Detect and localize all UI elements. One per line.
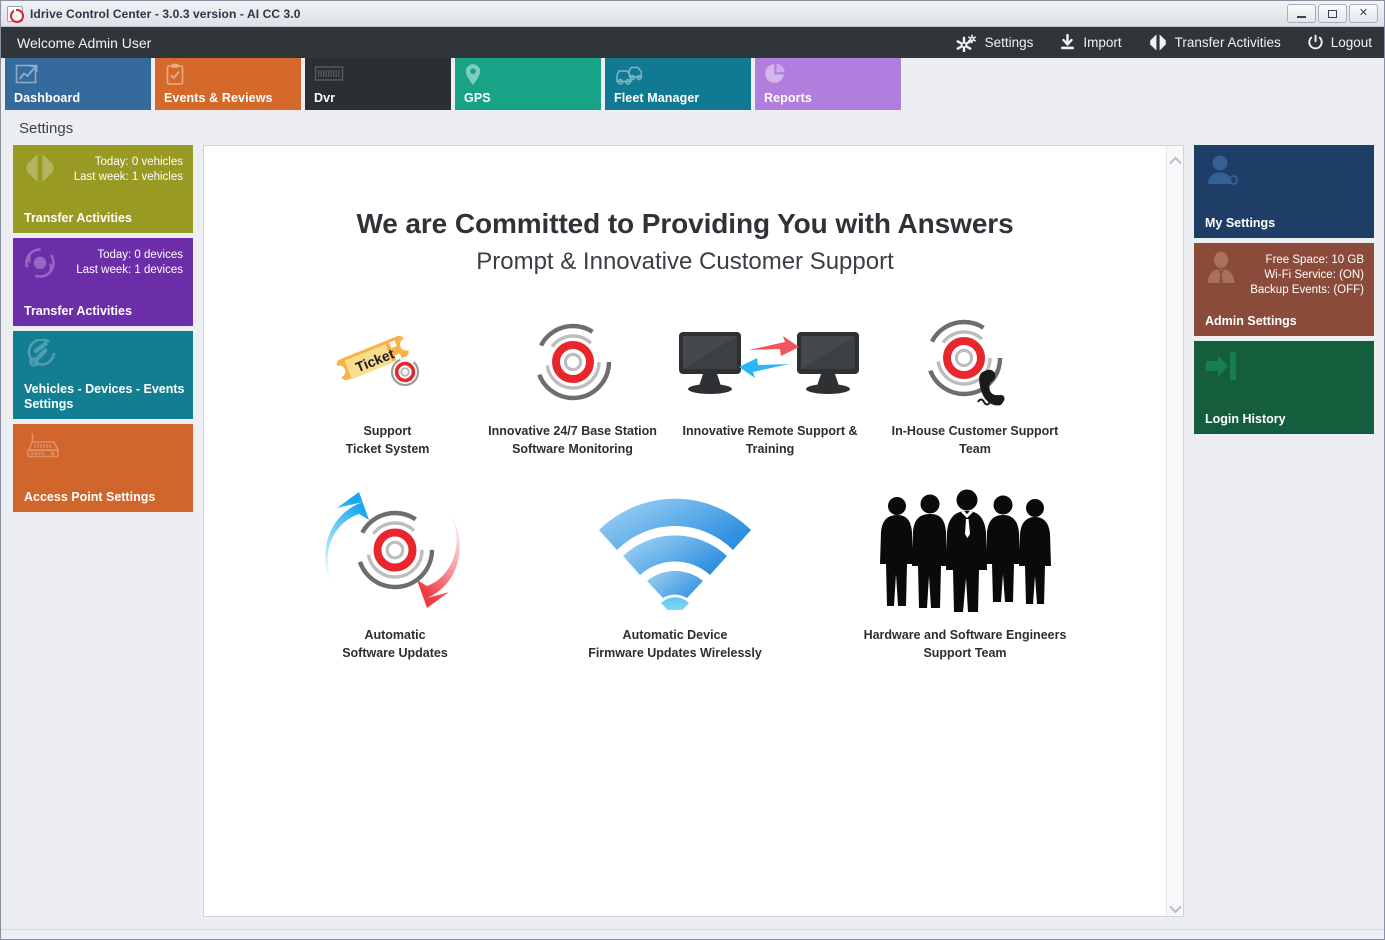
- window-controls: ✕: [1287, 4, 1382, 23]
- tile-label: Access Point Settings: [24, 490, 185, 505]
- application-window: Idrive Control Center - 3.0.3 version - …: [0, 0, 1385, 940]
- maximize-icon: [1328, 10, 1337, 18]
- hero-heading: We are Committed to Providing You with A…: [204, 208, 1166, 240]
- tab-dvr[interactable]: Dvr: [305, 58, 451, 110]
- menu-item-transfer-activities[interactable]: Transfer Activities: [1148, 34, 1281, 51]
- wifi-icon: [525, 486, 825, 616]
- menu-label-transfer-activities: Transfer Activities: [1175, 35, 1281, 50]
- minimize-button[interactable]: [1287, 4, 1316, 23]
- main-navigation-tabs: Dashboard Events & Reviews: [1, 58, 1384, 112]
- menu-label-settings: Settings: [985, 35, 1034, 50]
- feature-label: Innovative 24/7 Base Station Software Mo…: [480, 422, 665, 458]
- pie-chart-icon: [764, 63, 786, 90]
- feature-label: Automatic Software Updates: [265, 626, 525, 662]
- tile-label: Admin Settings: [1205, 314, 1366, 329]
- tile-stats: Today: 0 devices Last week: 1 devices: [76, 248, 183, 278]
- tile-stats: Today: 0 vehicles Last week: 1 vehicles: [74, 155, 183, 185]
- feature-hw-sw-engineers-support-team: Hardware and Software Engineers Support …: [825, 486, 1105, 662]
- map-pin-icon: [464, 63, 482, 92]
- feature-automatic-software-updates: Automatic Software Updates: [265, 486, 525, 662]
- login-door-icon: [1204, 349, 1238, 388]
- right-tile-column: My Settings Free Space: 10 GB Wi-Fi Serv…: [1194, 145, 1374, 917]
- tile-label: Transfer Activities: [24, 304, 185, 319]
- wrench-icon: [23, 339, 59, 378]
- download-icon: [1059, 34, 1076, 51]
- feature-remote-support-training: Innovative Remote Support & Training: [665, 312, 875, 458]
- tab-fleet-manager[interactable]: Fleet Manager: [605, 58, 751, 110]
- features-grid: Ticket Support Ticket System: [204, 312, 1166, 662]
- user-settings-icon: [1204, 153, 1240, 194]
- target-phone-icon: [875, 312, 1075, 412]
- feature-label: Support Ticket System: [295, 422, 480, 458]
- tab-label-fleet-manager: Fleet Manager: [614, 91, 699, 105]
- minimize-icon: [1297, 16, 1306, 18]
- feature-base-station-monitoring: Innovative 24/7 Base Station Software Mo…: [480, 312, 665, 458]
- features-row-2: Automatic Software Updates: [204, 486, 1166, 662]
- router-icon: [23, 432, 63, 471]
- tab-gps[interactable]: GPS: [455, 58, 601, 110]
- tab-label-dashboard: Dashboard: [14, 91, 80, 105]
- tab-reports[interactable]: Reports: [755, 58, 901, 110]
- feature-inhouse-customer-support-team: In-House Customer Support Team: [875, 312, 1075, 458]
- tile-my-settings[interactable]: My Settings: [1194, 145, 1374, 238]
- stat-line: Today: 0 devices: [97, 249, 183, 261]
- menu-item-import[interactable]: Import: [1059, 34, 1121, 51]
- content-scroll-area: We are Committed to Providing You with A…: [204, 146, 1166, 916]
- team-silhouette-icon: [825, 486, 1105, 616]
- top-menu-bar: Welcome Admin User: [1, 27, 1384, 58]
- stat-line: Free Space: 10 GB: [1266, 254, 1364, 266]
- hero-section: We are Committed to Providing You with A…: [204, 146, 1166, 276]
- close-icon: ✕: [1359, 8, 1368, 19]
- feature-label: Innovative Remote Support & Training: [665, 422, 875, 458]
- vehicles-icon: [614, 63, 644, 92]
- features-row-1: Ticket Support Ticket System: [204, 312, 1166, 458]
- chevron-up-icon[interactable]: [1169, 152, 1182, 161]
- sync-circle-icon: [23, 246, 57, 285]
- tile-label: Login History: [1205, 412, 1366, 427]
- tile-stats: Free Space: 10 GB Wi-Fi Service: (ON) Ba…: [1250, 253, 1364, 298]
- vertical-scrollbar[interactable]: [1166, 146, 1183, 916]
- tab-label-dvr: Dvr: [314, 91, 335, 105]
- app-target-ring-icon: [7, 6, 23, 22]
- feature-label: Hardware and Software Engineers Support …: [825, 626, 1105, 662]
- menu-item-logout[interactable]: Logout: [1307, 34, 1372, 51]
- tile-admin-settings[interactable]: Free Space: 10 GB Wi-Fi Service: (ON) Ba…: [1194, 243, 1374, 336]
- page-title: Settings: [19, 120, 73, 137]
- close-button[interactable]: ✕: [1349, 4, 1378, 23]
- feature-label: Automatic Device Firmware Updates Wirele…: [525, 626, 825, 662]
- clipboard-check-icon: [164, 63, 186, 92]
- transfer-arrows-icon: [1148, 34, 1168, 51]
- stat-line: Today: 0 vehicles: [95, 156, 183, 168]
- tile-label: Transfer Activities: [24, 211, 185, 226]
- stat-line: Last week: 1 vehicles: [74, 171, 183, 183]
- tile-label: My Settings: [1205, 216, 1366, 231]
- power-icon: [1307, 34, 1324, 51]
- hero-subheading: Prompt & Innovative Customer Support: [204, 248, 1166, 276]
- remote-monitors-icon: [665, 312, 875, 412]
- tile-transfer-activities-vehicles[interactable]: Today: 0 vehicles Last week: 1 vehicles …: [13, 145, 193, 233]
- tile-login-history[interactable]: Login History: [1194, 341, 1374, 434]
- maximize-button[interactable]: [1318, 4, 1347, 23]
- transfer-arrows-icon: [23, 153, 57, 188]
- menu-label-logout: Logout: [1331, 35, 1372, 50]
- admin-user-icon: [1204, 251, 1238, 292]
- left-tile-column: Today: 0 vehicles Last week: 1 vehicles …: [13, 145, 193, 917]
- target-ring-icon: [480, 312, 665, 412]
- menu-label-import: Import: [1083, 35, 1121, 50]
- feature-label: In-House Customer Support Team: [875, 422, 1075, 458]
- tab-dashboard[interactable]: Dashboard: [5, 58, 151, 110]
- dvr-icon: [314, 63, 344, 90]
- tile-label: Vehicles - Devices - Events Settings: [24, 382, 185, 412]
- title-bar: Idrive Control Center - 3.0.3 version - …: [1, 1, 1384, 27]
- page-body: Today: 0 vehicles Last week: 1 vehicles …: [1, 145, 1384, 929]
- welcome-text: Welcome Admin User: [17, 35, 151, 51]
- menu-actions: Settings Import Transf: [956, 34, 1372, 52]
- feature-support-ticket-system: Ticket Support Ticket System: [295, 312, 480, 458]
- menu-item-settings[interactable]: Settings: [956, 34, 1034, 52]
- tab-label-gps: GPS: [464, 91, 491, 105]
- tab-label-events-reviews: Events & Reviews: [164, 91, 273, 105]
- gears-icon: [956, 34, 978, 52]
- breadcrumb: Settings: [1, 112, 1384, 145]
- feature-device-firmware-updates: Automatic Device Firmware Updates Wirele…: [525, 486, 825, 662]
- auto-update-target-icon: [265, 486, 525, 616]
- tab-label-reports: Reports: [764, 91, 812, 105]
- tile-access-point-settings[interactable]: Access Point Settings: [13, 424, 193, 512]
- status-bar: [1, 929, 1384, 939]
- chevron-down-icon[interactable]: [1169, 901, 1182, 910]
- tab-events-reviews[interactable]: Events & Reviews: [155, 58, 301, 110]
- tile-vehicles-devices-events-settings[interactable]: Vehicles - Devices - Events Settings: [13, 331, 193, 419]
- tile-transfer-activities-devices[interactable]: Today: 0 devices Last week: 1 devices Tr…: [13, 238, 193, 326]
- window-title: Idrive Control Center - 3.0.3 version - …: [30, 7, 301, 21]
- stat-line: Backup Events: (OFF): [1250, 284, 1364, 296]
- main-content-panel: We are Committed to Providing You with A…: [203, 145, 1184, 917]
- stat-line: Wi-Fi Service: (ON): [1264, 269, 1364, 281]
- stat-line: Last week: 1 devices: [76, 264, 183, 276]
- chart-trend-icon: [14, 63, 40, 92]
- support-ticket-icon: Ticket: [295, 312, 480, 412]
